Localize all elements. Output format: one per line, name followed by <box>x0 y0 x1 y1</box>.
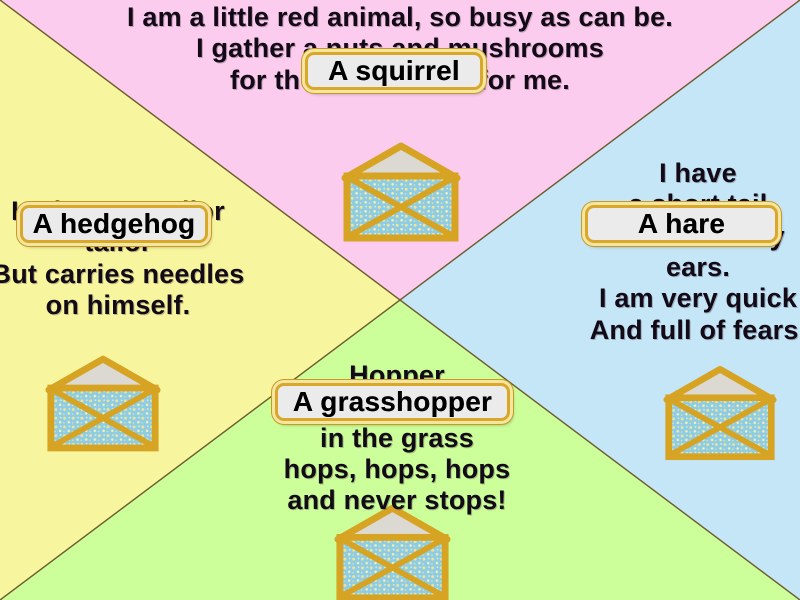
envelope-icon-right[interactable] <box>663 364 777 462</box>
answer-box-squirrel[interactable]: A squirrel <box>305 52 483 90</box>
envelope-icon-left[interactable] <box>45 355 161 452</box>
answer-box-hedgehog[interactable]: A hedgehog <box>20 205 208 243</box>
envelope-icon-bottom[interactable] <box>334 504 451 600</box>
envelope-icon-top[interactable] <box>340 142 462 242</box>
slide-canvas: I am a little red animal, so busy as can… <box>0 0 800 600</box>
answer-box-hare[interactable]: A hare <box>585 205 778 243</box>
riddle-text-hare: I have a short tail and two furry ears. … <box>548 158 800 346</box>
answer-box-grasshopper[interactable]: A grasshopper <box>275 383 510 421</box>
